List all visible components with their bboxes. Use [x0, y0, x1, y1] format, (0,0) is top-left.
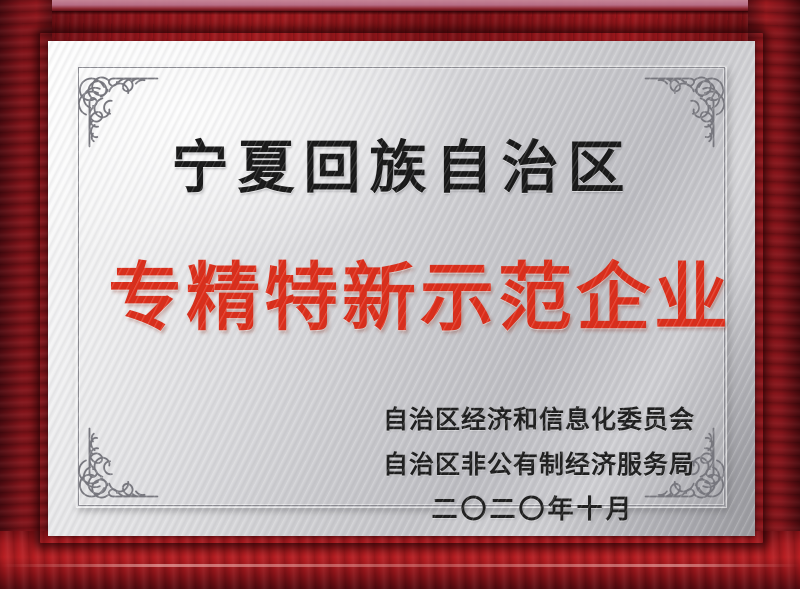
plaque-content: 宁夏回族自治区 专精特新示范企业 自治区经济和信息化委员会 自治区非公有制经济服… [108, 101, 697, 474]
frame-top-bevel [0, 0, 800, 11]
award-plaque: 宁夏回族自治区 专精特新示范企业 自治区经济和信息化委员会 自治区非公有制经济服… [0, 0, 800, 589]
region-title: 宁夏回族自治区 [108, 139, 697, 196]
issuer-line-2: 自治区非公有制经济服务局 [383, 452, 683, 477]
frame-bottom-highlight [0, 564, 800, 567]
issuer-block: 自治区经济和信息化委员会 自治区非公有制经济服务局 二〇二〇年十月 [383, 407, 683, 523]
frame-top-bevel-shadow [0, 11, 800, 15]
issuer-line-1: 自治区经济和信息化委员会 [383, 407, 683, 432]
award-title: 专精特新示范企业 [108, 261, 697, 335]
metal-plate: 宁夏回族自治区 专精特新示范企业 自治区经济和信息化委员会 自治区非公有制经济服… [48, 41, 755, 536]
issue-date: 二〇二〇年十月 [383, 497, 683, 523]
